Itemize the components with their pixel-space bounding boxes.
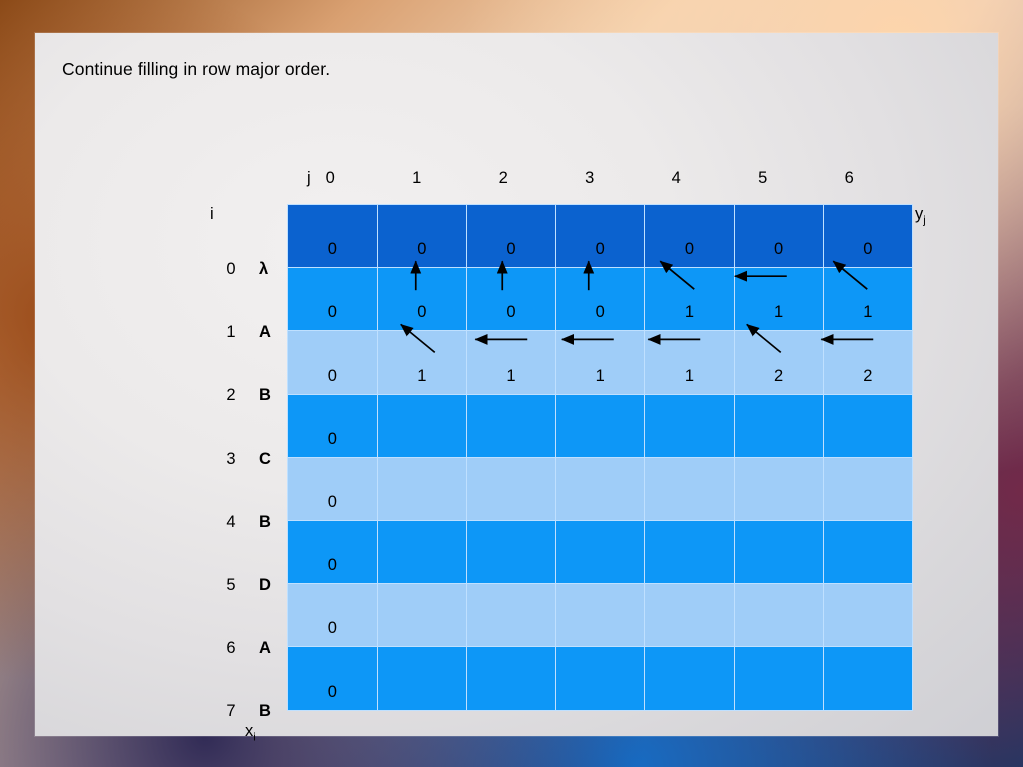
row-index-6: 6 (226, 639, 235, 658)
table-cell-2-4[interactable]: 1 (645, 331, 734, 394)
table-cell-7-5[interactable] (734, 647, 823, 710)
table-cell-5-1[interactable] (377, 520, 466, 583)
row-symbol-3: C (259, 450, 271, 469)
cell-value: 0 (506, 303, 515, 322)
column-index-5: 5 (758, 169, 767, 188)
table-row: 0111122 (288, 331, 913, 394)
table-cell-1-6[interactable]: 1 (823, 268, 912, 331)
cell-value: 0 (417, 240, 426, 259)
cell-value: 0 (328, 430, 337, 449)
table-row: 0 (288, 647, 913, 710)
table-cell-0-6[interactable]: 0 (823, 205, 912, 268)
cell-value: 0 (328, 493, 337, 512)
table-cell-6-5[interactable] (734, 584, 823, 647)
table-cell-3-3[interactable] (556, 394, 645, 457)
table-row: 0 (288, 584, 913, 647)
table-cell-3-2[interactable] (466, 394, 555, 457)
table-cell-2-0[interactable]: 0 (288, 331, 378, 394)
table-cell-6-6[interactable] (823, 584, 912, 647)
table-row: 0 (288, 520, 913, 583)
cell-value: 0 (328, 303, 337, 322)
row-symbol-5: D (259, 576, 271, 595)
table-cell-5-0[interactable]: 0 (288, 520, 378, 583)
column-index-3: 3 (585, 169, 594, 188)
table-cell-3-1[interactable] (377, 394, 466, 457)
row-symbol-1: A (259, 323, 271, 342)
table-cell-4-1[interactable] (377, 457, 466, 520)
cell-value: 0 (596, 303, 605, 322)
table-cell-7-4[interactable] (645, 647, 734, 710)
table-row: 0000000 (288, 205, 913, 268)
dp-table-diagram: ji0123456λBDCABAyj0λ1A2B3C4B5D6A7Bxi 000… (35, 33, 998, 736)
row-index-5: 5 (226, 576, 235, 595)
column-index-6: 6 (845, 169, 854, 188)
table-cell-2-2[interactable]: 1 (466, 331, 555, 394)
cell-value: 1 (596, 367, 605, 386)
column-index-4: 4 (672, 169, 681, 188)
column-index-1: 1 (412, 169, 421, 188)
row-index-7: 7 (226, 702, 235, 721)
table-cell-7-1[interactable] (377, 647, 466, 710)
table-cell-2-5[interactable]: 2 (734, 331, 823, 394)
table-row: 0 (288, 457, 913, 520)
table-cell-4-4[interactable] (645, 457, 734, 520)
table-cell-5-2[interactable] (466, 520, 555, 583)
table-cell-7-0[interactable]: 0 (288, 647, 378, 710)
table-cell-6-4[interactable] (645, 584, 734, 647)
table-cell-6-2[interactable] (466, 584, 555, 647)
table-cell-1-5[interactable]: 1 (734, 268, 823, 331)
axis-label-x-i: xi (245, 722, 256, 743)
table-cell-5-4[interactable] (645, 520, 734, 583)
table-cell-4-3[interactable] (556, 457, 645, 520)
cell-value: 0 (863, 240, 872, 259)
cell-value: 0 (328, 556, 337, 575)
row-symbol-0: λ (259, 260, 268, 279)
cell-value: 0 (774, 240, 783, 259)
table-cell-3-6[interactable] (823, 394, 912, 457)
row-symbol-2: B (259, 386, 271, 405)
table-cell-3-0[interactable]: 0 (288, 394, 378, 457)
table-cell-5-6[interactable] (823, 520, 912, 583)
table-cell-1-1[interactable]: 0 (377, 268, 466, 331)
cell-value: 0 (685, 240, 694, 259)
row-index-4: 4 (226, 513, 235, 532)
table-cell-7-3[interactable] (556, 647, 645, 710)
table-cell-3-4[interactable] (645, 394, 734, 457)
axis-label-i: i (210, 205, 214, 224)
table-row: 0000111 (288, 268, 913, 331)
table-cell-4-5[interactable] (734, 457, 823, 520)
table-cell-4-6[interactable] (823, 457, 912, 520)
table-cell-0-3[interactable]: 0 (556, 205, 645, 268)
row-index-0: 0 (226, 260, 235, 279)
table-cell-1-2[interactable]: 0 (466, 268, 555, 331)
cell-value: 1 (685, 303, 694, 322)
cell-value: 0 (417, 303, 426, 322)
table-cell-1-0[interactable]: 0 (288, 268, 378, 331)
column-index-2: 2 (499, 169, 508, 188)
row-index-1: 1 (226, 323, 235, 342)
table-cell-6-1[interactable] (377, 584, 466, 647)
row-index-3: 3 (226, 450, 235, 469)
row-symbol-4: B (259, 513, 271, 532)
table-cell-6-3[interactable] (556, 584, 645, 647)
table-cell-2-6[interactable]: 2 (823, 331, 912, 394)
table-cell-5-5[interactable] (734, 520, 823, 583)
table-cell-4-0[interactable]: 0 (288, 457, 378, 520)
cell-value: 1 (506, 367, 515, 386)
slide-panel: Continue filling in row major order. ji0… (35, 33, 998, 736)
table-cell-6-0[interactable]: 0 (288, 584, 378, 647)
row-symbol-7: B (259, 702, 271, 721)
cell-value: 0 (596, 240, 605, 259)
row-index-2: 2 (226, 386, 235, 405)
cell-value: 0 (328, 619, 337, 638)
cell-value: 1 (417, 367, 426, 386)
table-cell-4-2[interactable] (466, 457, 555, 520)
cell-value: 1 (863, 303, 872, 322)
cell-value: 0 (328, 683, 337, 702)
table-cell-0-0[interactable]: 0 (288, 205, 378, 268)
cell-value: 1 (685, 367, 694, 386)
table-cell-3-5[interactable] (734, 394, 823, 457)
column-index-0: 0 (326, 169, 335, 188)
table-cell-7-2[interactable] (466, 647, 555, 710)
dp-table: 00000000000111011112200000 (287, 204, 913, 711)
cell-value: 0 (506, 240, 515, 259)
table-cell-0-5[interactable]: 0 (734, 205, 823, 268)
table-cell-5-3[interactable] (556, 520, 645, 583)
table-cell-7-6[interactable] (823, 647, 912, 710)
cell-value: 1 (774, 303, 783, 322)
table-cell-0-1[interactable]: 0 (377, 205, 466, 268)
table-row: 0 (288, 394, 913, 457)
axis-label-j: j (307, 169, 311, 188)
cell-value: 2 (774, 367, 783, 386)
table-cell-1-4[interactable]: 1 (645, 268, 734, 331)
cell-value: 2 (863, 367, 872, 386)
axis-label-y-j: yj (915, 205, 926, 226)
row-symbol-6: A (259, 639, 271, 658)
table-cell-2-1[interactable]: 1 (377, 331, 466, 394)
table-cell-0-4[interactable]: 0 (645, 205, 734, 268)
table-cell-1-3[interactable]: 0 (556, 268, 645, 331)
table-cell-0-2[interactable]: 0 (466, 205, 555, 268)
cell-value: 0 (328, 367, 337, 386)
cell-value: 0 (328, 240, 337, 259)
table-cell-2-3[interactable]: 1 (556, 331, 645, 394)
